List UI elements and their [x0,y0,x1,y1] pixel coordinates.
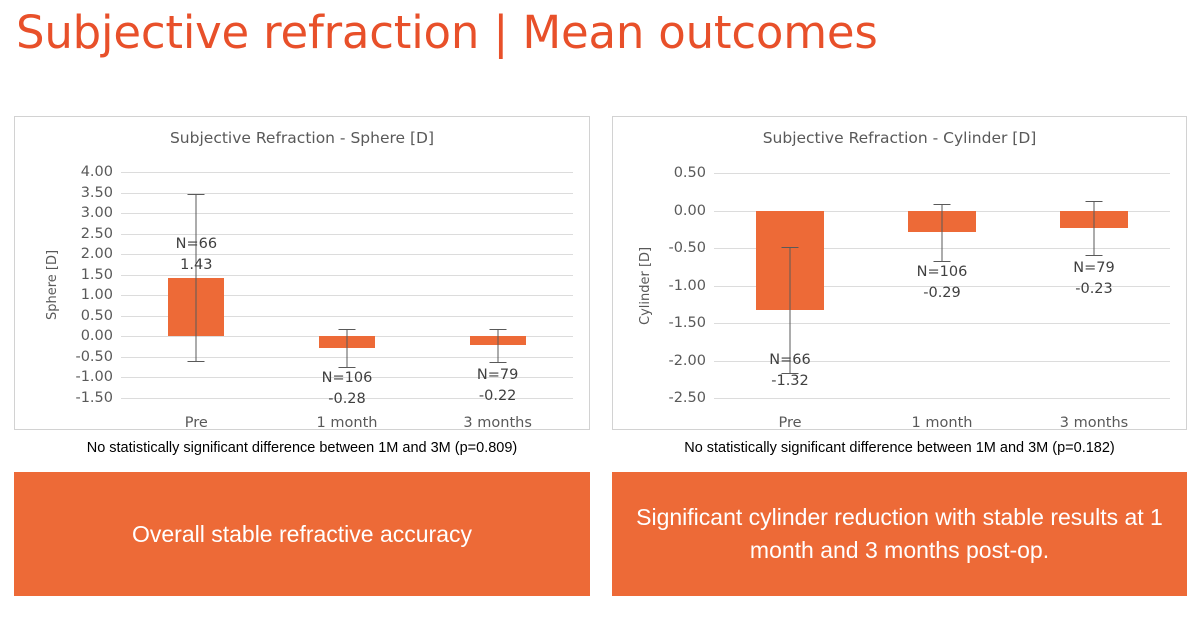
sphere-chart-caption: No statistically significant difference … [14,440,590,456]
y-axis-tick-label: -2.50 [668,390,706,406]
y-axis-tick-label: 3.50 [81,185,113,201]
y-axis-tick-label: -1.00 [75,369,113,385]
value-label: -1.32 [771,373,809,389]
error-bar-cap-top [934,204,951,205]
page-title: Subjective refraction | Mean outcomes [16,4,878,62]
left-panel: Subjective Refraction - Sphere [D] Spher… [14,116,590,596]
sphere-callout-text: Overall stable refractive accuracy [132,518,472,551]
y-axis-tick-label: 4.00 [81,164,113,180]
y-axis-tick-label: 2.00 [81,246,113,262]
error-bar-cap-top [782,247,799,248]
y-axis-tick-label: -1.50 [75,390,113,406]
error-bar-cap-bottom [1086,255,1103,256]
error-bar-cap-top [489,329,506,330]
x-axis-tick-label: Pre [185,415,208,431]
sphere-chart-title: Subjective Refraction - Sphere [D] [15,129,589,147]
sphere-chart: Subjective Refraction - Sphere [D] Spher… [14,116,590,430]
cylinder-callout-text: Significant cylinder reduction with stab… [632,501,1167,567]
right-panel: Subjective Refraction - Cylinder [D] Cyl… [612,116,1187,596]
error-bar-cap-bottom [188,361,205,362]
x-axis-tick-label: 3 months [1060,415,1128,431]
sphere-callout-box: Overall stable refractive accuracy [14,472,590,596]
error-bar-cap-bottom [489,362,506,363]
y-axis-tick-label: -0.50 [668,240,706,256]
value-label: -0.28 [328,391,366,407]
error-bar-cap-top [339,329,356,330]
y-axis-tick-label: -0.50 [75,349,113,365]
y-axis-tick-label: 0.50 [81,308,113,324]
value-label: -0.22 [479,388,517,404]
x-axis-tick-label: 3 months [463,415,531,431]
error-bar [942,204,943,261]
cylinder-plot-area: 0.500.00-0.50-1.00-1.50-2.00-2.50N=66-1.… [714,173,1170,398]
sphere-y-axis-title: Sphere [D] [45,250,60,320]
error-bar [196,194,197,361]
sphere-plot-area: 4.003.503.002.502.001.501.000.500.00-0.5… [121,172,573,398]
y-axis-tick-label: 0.00 [674,203,706,219]
sample-size-label: N=79 [477,367,518,383]
error-bar-cap-top [188,194,205,195]
y-axis-tick-label: 2.50 [81,226,113,242]
error-bar-cap-top [1086,201,1103,202]
value-label: -0.23 [1075,281,1113,297]
gridline [121,275,573,276]
gridline [121,213,573,214]
gridline [121,234,573,235]
value-label: -0.29 [923,285,961,301]
y-axis-tick-label: -2.00 [668,353,706,369]
cylinder-callout-box: Significant cylinder reduction with stab… [612,472,1187,596]
gridline [714,173,1170,174]
gridline [121,254,573,255]
y-axis-tick-label: 0.00 [81,328,113,344]
sample-size-label: N=106 [322,370,373,386]
error-bar [347,329,348,367]
y-axis-tick-label: -1.50 [668,315,706,331]
error-bar [1094,201,1095,255]
cylinder-chart: Subjective Refraction - Cylinder [D] Cyl… [612,116,1187,430]
sample-size-label: N=79 [1073,260,1114,276]
cylinder-chart-title: Subjective Refraction - Cylinder [D] [613,129,1186,147]
value-label: 1.43 [180,257,212,273]
sample-size-label: N=66 [769,352,810,368]
x-axis-tick-label: Pre [778,415,801,431]
gridline [714,398,1170,399]
gridline [714,323,1170,324]
cylinder-y-axis-title: Cylinder [D] [638,246,653,324]
sample-size-label: N=66 [176,236,217,252]
y-axis-tick-label: 3.00 [81,205,113,221]
y-axis-tick-label: -1.00 [668,278,706,294]
y-axis-tick-label: 1.00 [81,287,113,303]
error-bar-cap-bottom [934,261,951,262]
x-axis-tick-label: 1 month [317,415,378,431]
y-axis-tick-label: 0.50 [674,165,706,181]
error-bar [497,329,498,363]
cylinder-chart-caption: No statistically significant difference … [612,440,1187,456]
sample-size-label: N=106 [917,264,968,280]
error-bar-cap-bottom [339,367,356,368]
y-axis-tick-label: 1.50 [81,267,113,283]
x-axis-tick-label: 1 month [912,415,973,431]
gridline [121,172,573,173]
